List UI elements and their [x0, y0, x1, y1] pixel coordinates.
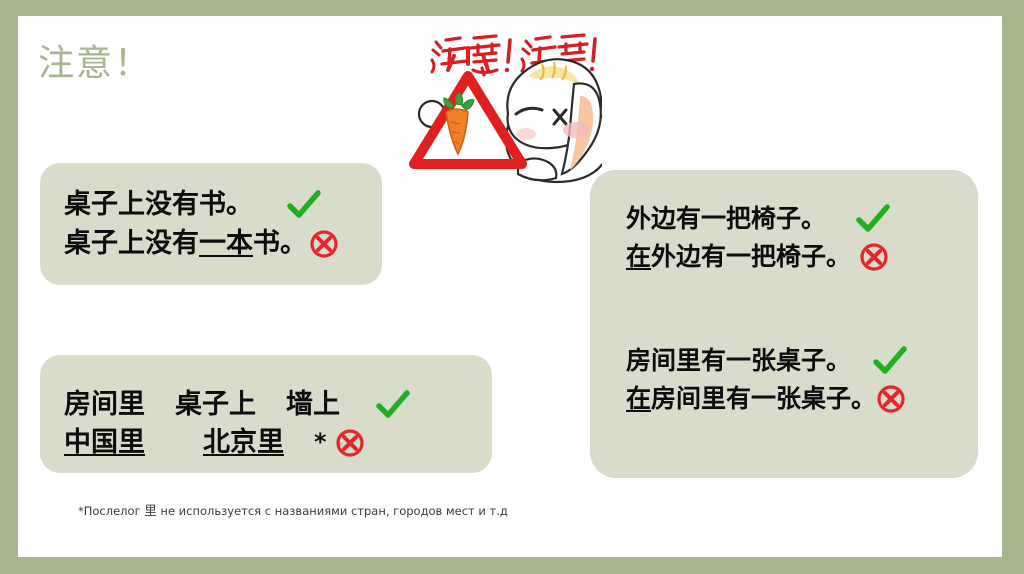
sentence-text: 外边有一把椅子。	[626, 206, 826, 232]
cross-icon	[309, 229, 339, 259]
sentence-text: 外边有一把椅子。	[651, 244, 851, 270]
sentence-text: 书。	[253, 230, 307, 258]
sentence-text-underlined: 一本	[199, 230, 253, 258]
sentence-text: 桌子上没有	[64, 230, 199, 258]
sentence-text: 房间里有一张桌子。	[651, 386, 876, 412]
sentence-row-incorrect-2: 在 外边有一把椅子。	[626, 242, 889, 272]
sentence-row-incorrect-3: 在 房间里有一张桌子。	[626, 384, 906, 414]
sentence-text-underlined: 在	[626, 386, 651, 412]
info-box-left-1	[40, 163, 382, 285]
phrase-text-underlined: 中国里	[64, 429, 145, 457]
check-icon	[287, 190, 321, 220]
carrot-icon	[444, 93, 474, 154]
sentence-row-correct-2: 外边有一把椅子。	[626, 204, 890, 234]
phrase-row-incorrect: 中国里 北京里 *	[64, 428, 365, 458]
check-icon	[873, 346, 907, 376]
check-icon	[376, 390, 410, 420]
footnote-prefix: *Послелог	[78, 504, 144, 518]
phrase-row-correct: 房间里 桌子上 墙上	[64, 390, 410, 420]
sentence-row-incorrect-1: 桌子上没有 一本 书。	[64, 229, 339, 259]
phrase-text: 桌子上	[175, 391, 256, 419]
footnote-hanzi: 里	[144, 503, 157, 518]
footnote-star: *	[314, 430, 327, 455]
slide-frame: 注意！	[0, 0, 1024, 574]
cross-icon	[335, 428, 365, 458]
sentence-text: 房间里有一张桌子。	[626, 348, 851, 374]
cross-icon	[876, 384, 906, 414]
page-title: 注意！	[38, 34, 152, 86]
phrase-text-underlined: 北京里	[203, 429, 284, 457]
sentence-row-correct-1: 桌子上没有书。	[64, 190, 321, 220]
phrase-text: 房间里	[64, 391, 145, 419]
sentence-text-underlined: 在	[626, 244, 651, 270]
footnote: *Послелог 里 не используется с названиями…	[78, 500, 508, 519]
footnote-suffix: не используется с названиями стран, горо…	[157, 504, 508, 518]
check-icon	[856, 204, 890, 234]
sentence-text: 桌子上没有书。	[64, 191, 253, 219]
rabbit-warning-illustration	[390, 18, 602, 188]
sentence-row-correct-3: 房间里有一张桌子。	[626, 346, 907, 376]
cross-icon	[859, 242, 889, 272]
phrase-text: 墙上	[286, 391, 340, 419]
slide-canvas: 注意！	[18, 16, 1002, 557]
